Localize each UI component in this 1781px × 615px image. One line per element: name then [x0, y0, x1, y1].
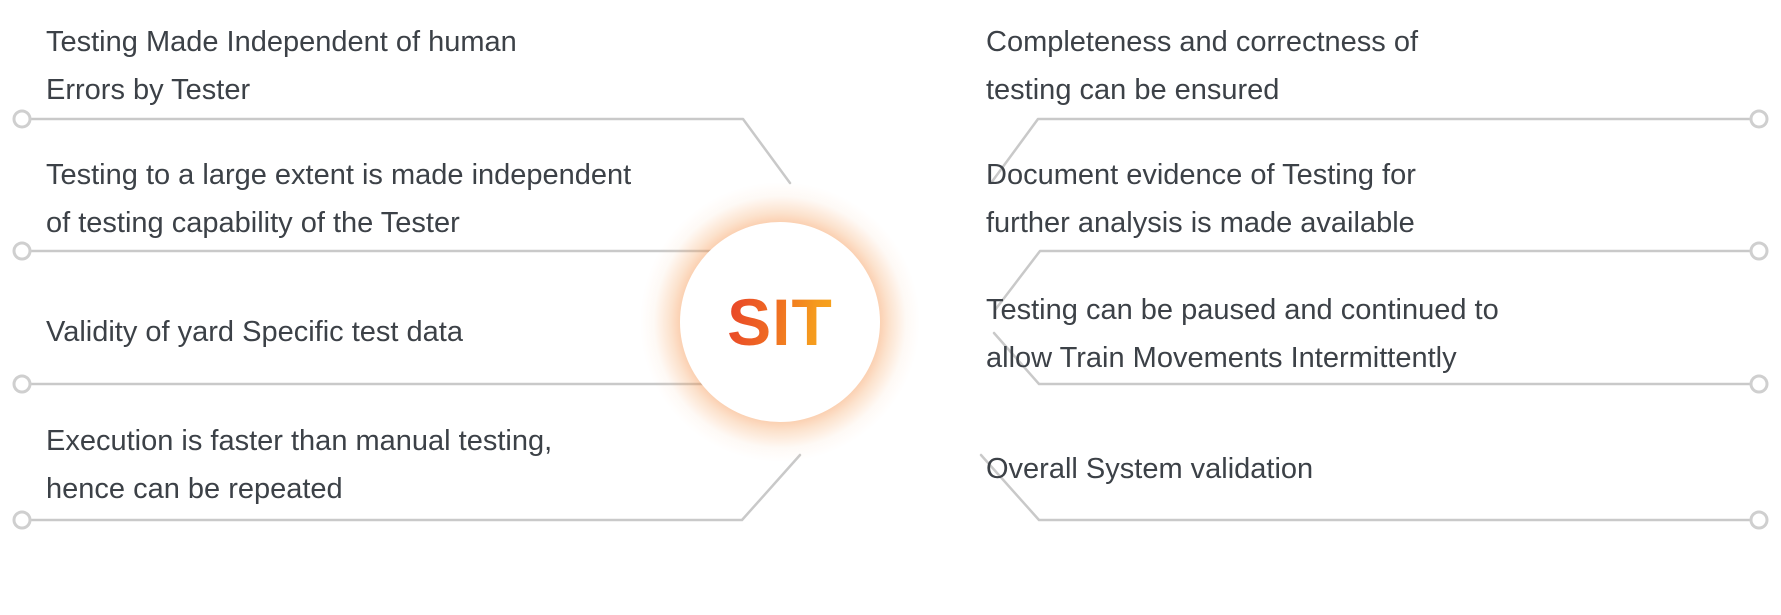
- endpoint-left-1: [14, 111, 30, 127]
- endpoint-left-4: [14, 512, 30, 528]
- branch-label-right-2-line1: Document evidence of Testing for: [986, 151, 1686, 199]
- branch-label-right-1-line2: testing can be ensured: [986, 66, 1686, 114]
- branch-label-right-3-line2: allow Train Movements Intermittently: [986, 334, 1726, 382]
- branch-label-left-3-line1: Validity of yard Specific test data: [46, 308, 686, 356]
- branch-label-left-2[interactable]: Testing to a large extent is made indepe…: [46, 151, 706, 247]
- branch-label-left-2-line1: Testing to a large extent is made indepe…: [46, 151, 706, 199]
- endpoint-left-2: [14, 243, 30, 259]
- branch-label-right-4[interactable]: Overall System validation: [986, 445, 1686, 493]
- hub-circle[interactable]: SIT: [680, 222, 880, 422]
- endpoint-right-1: [1751, 111, 1767, 127]
- branch-label-left-2-line2: of testing capability of the Tester: [46, 199, 706, 247]
- branch-label-right-2-line2: further analysis is made available: [986, 199, 1686, 247]
- branch-label-right-2[interactable]: Document evidence of Testing for further…: [986, 151, 1686, 247]
- branch-label-right-3-line1: Testing can be paused and continued to: [986, 286, 1726, 334]
- branch-label-right-1[interactable]: Completeness and correctness of testing …: [986, 18, 1686, 114]
- branch-label-right-1-line1: Completeness and correctness of: [986, 18, 1686, 66]
- hub-label: SIT: [727, 289, 833, 355]
- branch-label-left-1-line1: Testing Made Independent of human: [46, 18, 686, 66]
- branch-label-right-3[interactable]: Testing can be paused and continued to a…: [986, 286, 1726, 382]
- endpoint-left-3: [14, 376, 30, 392]
- connector-left-2: [24, 251, 786, 310]
- endpoint-right-3: [1751, 376, 1767, 392]
- branch-label-right-4-line1: Overall System validation: [986, 445, 1686, 493]
- mindmap-canvas: SIT Testing Made Independent of human Er…: [0, 0, 1781, 615]
- branch-label-left-4-line1: Execution is faster than manual testing,: [46, 417, 686, 465]
- branch-label-left-1[interactable]: Testing Made Independent of human Errors…: [46, 18, 686, 114]
- branch-label-left-4-line2: hence can be repeated: [46, 465, 686, 513]
- branch-label-left-3[interactable]: Validity of yard Specific test data: [46, 308, 686, 356]
- branch-label-left-1-line2: Errors by Tester: [46, 66, 686, 114]
- endpoint-right-2: [1751, 243, 1767, 259]
- endpoint-right-4: [1751, 512, 1767, 528]
- branch-label-left-4[interactable]: Execution is faster than manual testing,…: [46, 417, 686, 513]
